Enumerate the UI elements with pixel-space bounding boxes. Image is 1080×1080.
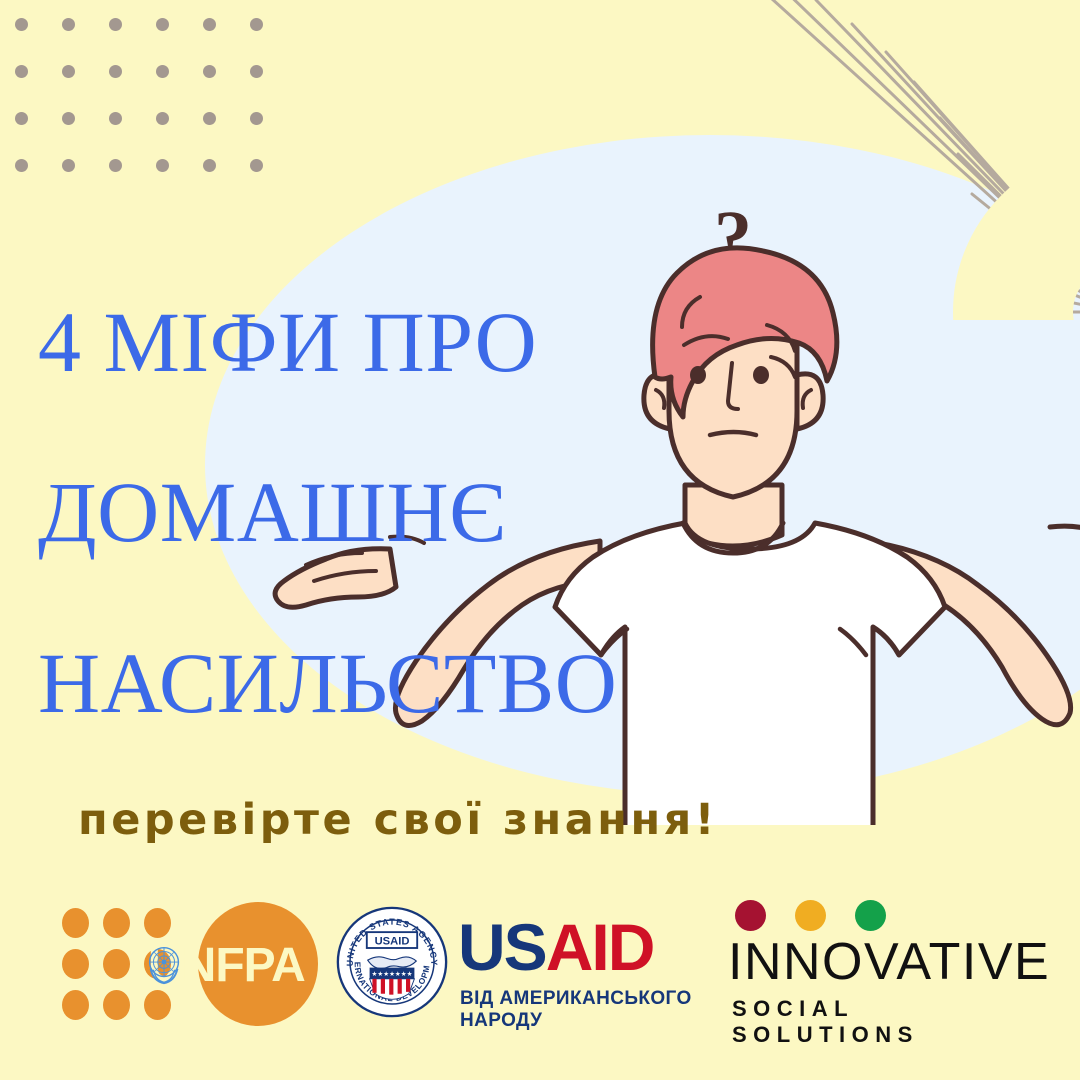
- svg-text:★★★★★★★: ★★★★★★★: [372, 970, 413, 978]
- logo-usaid: UNITED STATES AGENCY INTERNATIONAL DEVEL…: [336, 906, 696, 1021]
- left-eye: [690, 366, 706, 384]
- logo-row: UNFPA UNITED STATES AGENCY INTERNATIONAL…: [0, 892, 1080, 1032]
- iss-wordmark: INNOVATIVE: [728, 936, 1050, 988]
- logo-unfpa: UNFPA: [62, 900, 317, 1025]
- usaid-wordmark: USAID: [458, 914, 653, 980]
- iss-dot-row: [735, 900, 900, 932]
- svg-text:USAID: USAID: [375, 935, 410, 947]
- iss-tagline: SOCIAL SOLUTIONS: [732, 996, 1038, 1048]
- headline-line-2: ДОМАШНЄ: [38, 470, 617, 555]
- usaid-tagline: ВІД АМЕРИКАНСЬКОГО НАРОДУ: [460, 988, 696, 1032]
- decorative-dot-grid: [15, 18, 285, 198]
- headline-line-1: 4 МІФИ ПРО: [38, 300, 617, 385]
- subtitle-call-to-action: перевірте свої знання!: [78, 795, 718, 845]
- usaid-word-aid: AID: [546, 910, 654, 984]
- right-eye: [753, 366, 769, 384]
- poster-canvas: ?: [0, 0, 1080, 1080]
- usaid-word-us: US: [458, 910, 546, 984]
- un-emblem-icon: [140, 940, 188, 988]
- headline-line-3: НАСИЛЬСТВО: [38, 641, 617, 726]
- page-title: 4 МІФИ ПРО ДОМАШНЄ НАСИЛЬСТВО: [38, 215, 617, 811]
- logo-innovative-social-solutions: INNOVATIVE SOCIAL SOLUTIONS: [728, 892, 1038, 1027]
- usaid-seal-icon: UNITED STATES AGENCY INTERNATIONAL DEVEL…: [336, 906, 448, 1018]
